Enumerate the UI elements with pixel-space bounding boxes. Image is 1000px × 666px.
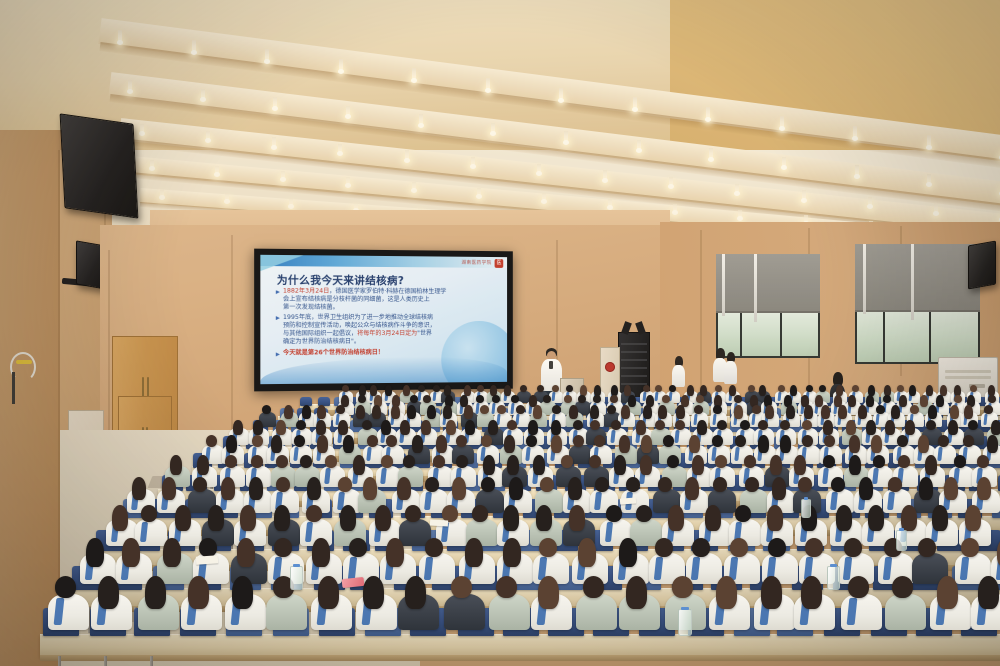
- audience-head: [372, 405, 381, 419]
- audience-head: [780, 435, 791, 453]
- audience-head: [296, 420, 306, 430]
- audience-head: [655, 420, 665, 430]
- audience-member: [885, 576, 926, 634]
- blind-cord[interactable]: [754, 254, 757, 322]
- audience-head: [734, 405, 743, 419]
- audience-head: [573, 435, 584, 447]
- audience-head: [163, 538, 181, 567]
- audience-head: [655, 538, 673, 557]
- audience-head: [715, 455, 727, 468]
- audience-head: [626, 576, 647, 609]
- audience-head: [772, 477, 786, 500]
- audience-head: [363, 576, 384, 609]
- audience-head: [276, 477, 290, 492]
- audience-head: [831, 477, 845, 492]
- audience-head: [464, 405, 473, 419]
- audience-head: [358, 395, 366, 403]
- audience-head: [970, 385, 977, 392]
- audience-head: [984, 405, 993, 414]
- audience-head: [551, 435, 562, 453]
- audience-head: [300, 455, 312, 468]
- slide-header-badge: 医: [495, 259, 504, 268]
- audience-head: [675, 420, 685, 430]
- water-bottle: [801, 499, 811, 518]
- audience-head: [456, 435, 467, 447]
- ceiling-downlight: [486, 78, 490, 91]
- audience-head: [386, 435, 397, 447]
- audience-head: [836, 505, 852, 531]
- ceiling-downlight: [477, 188, 481, 197]
- audience-head: [844, 538, 862, 557]
- ac-vent: [945, 376, 991, 379]
- paper-on-desk: [196, 555, 219, 565]
- audience-head: [619, 435, 630, 453]
- ceiling-downlight: [225, 194, 229, 202]
- audience-head: [492, 395, 500, 403]
- ceiling-downlight: [128, 80, 132, 92]
- audience-head: [253, 420, 263, 435]
- ceiling-downlight: [564, 131, 568, 143]
- microphone-icon: [549, 361, 553, 369]
- fire-emblem-icon: [605, 362, 615, 372]
- audience-head: [276, 455, 288, 468]
- audience-head: [208, 505, 224, 531]
- ceiling-downlight: [633, 97, 637, 110]
- audience-head: [262, 405, 271, 414]
- audience-member: [930, 576, 971, 634]
- bottle-cap: [681, 607, 688, 610]
- ceiling-downlight: [346, 106, 350, 118]
- audience-head: [375, 505, 391, 531]
- audience-head: [483, 455, 495, 475]
- audience-head: [873, 455, 885, 468]
- audience-head: [897, 435, 908, 447]
- audience-head: [316, 420, 326, 435]
- ceiling-downlight: [346, 177, 350, 186]
- ceiling-downlight: [537, 164, 541, 174]
- audience-member: [225, 576, 266, 634]
- desk-leg: [104, 656, 107, 666]
- audience-head: [507, 455, 519, 475]
- audience-head: [662, 395, 670, 403]
- audience-head: [716, 576, 737, 609]
- ceiling-downlight: [868, 197, 872, 207]
- audience-head: [476, 395, 484, 403]
- audience-head: [421, 420, 431, 435]
- audience-head: [932, 505, 948, 531]
- audience-head: [503, 505, 519, 531]
- audience-head: [871, 435, 882, 453]
- audience-head: [744, 455, 756, 468]
- audience-head: [919, 477, 933, 500]
- audience-head: [433, 385, 440, 392]
- ceiling-downlight: [272, 137, 276, 147]
- audience-head: [765, 405, 774, 419]
- audience-head: [274, 538, 292, 557]
- audience-head: [386, 538, 404, 567]
- audience-head: [824, 435, 835, 447]
- ceiling-downlight: [927, 174, 931, 186]
- audience-head: [794, 455, 806, 475]
- audience-head: [363, 477, 377, 500]
- desk-leg: [150, 656, 153, 666]
- audience-member: [181, 576, 222, 634]
- audience-member: [398, 576, 439, 634]
- audience-head: [611, 420, 621, 430]
- audience-head: [758, 435, 769, 453]
- audience-head: [400, 420, 410, 435]
- audience-member: [971, 576, 1000, 634]
- slide-wave-graphic: [260, 356, 507, 384]
- ceiling-downlight: [289, 199, 293, 207]
- audience-head: [112, 505, 128, 531]
- slide-bullet: 今天就是第26个世界防治结核病日！: [275, 349, 500, 358]
- audience-head: [694, 405, 703, 414]
- paper-on-desk: [620, 497, 636, 504]
- audience-head: [768, 538, 786, 557]
- audience-head: [284, 405, 293, 419]
- blind-cord[interactable]: [863, 244, 866, 314]
- staff-coat: [724, 361, 737, 384]
- ceiling-downlight: [802, 190, 806, 200]
- slide-bullet: 1882年3月24日，德国医学家罗伯特·科赫在德国柏林生理学会上宣布结核病是分枝…: [275, 287, 500, 312]
- audience-head: [858, 405, 867, 419]
- audience-head: [225, 455, 237, 468]
- speaker-left-upper: [60, 113, 139, 218]
- ceiling-downlight: [706, 107, 710, 120]
- slide-title: 为什么我今天来讲结核病?: [277, 272, 404, 288]
- audience-head: [343, 435, 354, 453]
- audience-head: [786, 405, 795, 419]
- audience-head: [338, 420, 348, 435]
- audience-head: [636, 420, 646, 435]
- ceiling-downlight: [471, 157, 475, 167]
- audience-torso: [266, 594, 307, 630]
- audience-head: [823, 455, 835, 468]
- audience-head: [232, 576, 253, 609]
- audience-head: [496, 576, 517, 598]
- audience-head: [55, 576, 76, 598]
- audience-head: [712, 435, 723, 447]
- audience-head: [804, 405, 813, 419]
- slide-bullet: 1995年底，世界卫生组织为了进一步地推动全球结核病预防和控制宣传活动，唤起公众…: [275, 314, 500, 347]
- audience-head: [481, 477, 495, 492]
- audience-head: [717, 420, 727, 430]
- audience-head: [162, 477, 176, 500]
- audience-head: [692, 455, 704, 475]
- audience-head: [98, 576, 119, 609]
- audience-head: [240, 505, 256, 531]
- audience-head: [705, 505, 721, 531]
- audience-head: [692, 538, 710, 557]
- audience-head: [516, 405, 525, 414]
- audience-head: [86, 538, 104, 567]
- audience-head: [418, 385, 425, 392]
- projection-screen[interactable]: 湖南医药学院 医 为什么我今天来讲结核病? 1882年3月24日，德国医学家罗伯…: [254, 249, 513, 392]
- audience-head: [436, 435, 447, 453]
- audience-head: [838, 405, 847, 419]
- audience-member: [841, 576, 882, 634]
- window-right-1: [716, 254, 820, 358]
- slide-bullet-line: 第一次发现结核菌。: [283, 304, 499, 313]
- audience-head: [745, 477, 759, 492]
- audience-head: [610, 395, 618, 403]
- audience-head: [566, 385, 573, 392]
- audience-head: [318, 576, 339, 609]
- audience-head: [713, 477, 727, 492]
- slide-header-logo: 湖南医药学院: [462, 260, 492, 266]
- audience-head: [294, 435, 305, 447]
- audience-head: [806, 385, 813, 392]
- audience-head: [735, 435, 746, 447]
- audience-head: [898, 455, 910, 468]
- audience-head: [925, 455, 937, 475]
- audience-head: [573, 420, 583, 430]
- audience-head: [122, 538, 140, 567]
- audience-head: [317, 435, 328, 453]
- lecture-hall-photo: 湖南医药学院 医 为什么我今天来讲结核病? 1882年3月24日，德国医学家罗伯…: [0, 0, 1000, 666]
- audience-head: [849, 455, 861, 475]
- water-bottle: [896, 530, 907, 551]
- audience-head: [520, 385, 527, 392]
- audience-member: [531, 576, 572, 634]
- slide-corner-graphic: [260, 255, 303, 272]
- audience-head: [876, 405, 885, 414]
- audience-head: [403, 455, 415, 468]
- audience-head: [488, 420, 498, 435]
- audience-head: [643, 385, 650, 392]
- audience-head: [397, 477, 411, 500]
- audience-head: [465, 420, 475, 435]
- audience-head: [132, 477, 146, 500]
- audience-head: [643, 405, 652, 419]
- audience-head: [888, 477, 902, 492]
- audience-head: [740, 420, 750, 430]
- audience-head: [356, 405, 365, 419]
- audience-head: [443, 405, 452, 419]
- audience-head: [433, 455, 445, 468]
- audience-head: [852, 385, 859, 392]
- audience-head: [948, 420, 958, 435]
- audience-head: [509, 477, 523, 500]
- audience-head: [965, 505, 981, 531]
- ceiling-downlight: [419, 114, 423, 126]
- audience-head: [859, 477, 873, 500]
- audience-head: [452, 477, 466, 500]
- audience-member: [619, 576, 660, 634]
- audience-head: [968, 420, 978, 430]
- audience-head: [342, 385, 349, 392]
- ceiling-downlight: [608, 199, 612, 208]
- audience-head: [589, 455, 601, 468]
- audience-head: [655, 385, 662, 392]
- ceiling-downlight: [603, 170, 607, 180]
- audience-head: [640, 455, 652, 475]
- audience-head: [199, 538, 217, 557]
- audience-head: [937, 576, 958, 609]
- audience-head: [340, 505, 356, 531]
- audience-head: [249, 477, 263, 500]
- window-blind-1[interactable]: [716, 254, 820, 313]
- audience-head: [533, 405, 542, 419]
- audience-head: [145, 576, 166, 609]
- ceiling-downlight: [709, 148, 713, 160]
- audience-head: [954, 455, 966, 468]
- audience-head: [551, 420, 561, 435]
- audience-head: [964, 405, 973, 419]
- ceiling-downlight: [780, 116, 784, 129]
- audience-member: [489, 576, 530, 634]
- audience-head: [987, 435, 998, 453]
- audience-head: [926, 420, 936, 430]
- audience-head: [578, 395, 586, 403]
- audience-head: [552, 405, 561, 414]
- water-bottle: [678, 609, 692, 636]
- audience-head: [405, 576, 426, 609]
- audience-head: [897, 385, 904, 392]
- audience-head: [170, 455, 182, 475]
- audience-head: [658, 405, 667, 419]
- staff-coat: [672, 365, 685, 387]
- audience-head: [381, 420, 391, 435]
- blind-cord[interactable]: [911, 244, 914, 320]
- water-bottle: [290, 566, 303, 590]
- ceiling-downlight: [542, 193, 546, 202]
- audience-head: [950, 405, 959, 419]
- ceiling-downlight: [206, 131, 210, 141]
- audience-head: [193, 477, 207, 492]
- audience-member: [444, 576, 485, 634]
- audience-head: [511, 395, 519, 403]
- audience-member: [754, 576, 795, 634]
- audience-head: [188, 576, 209, 609]
- ceiling-downlight: [281, 171, 285, 180]
- audience-head: [636, 505, 652, 522]
- ceiling-downlight: [140, 124, 144, 134]
- audience-head: [412, 435, 423, 453]
- slide-bullet-list: 1882年3月24日，德国医学家罗伯特·科赫在德国柏林生理学会上宣布结核病是分枝…: [275, 287, 500, 359]
- audience-head: [533, 455, 545, 475]
- audience-head: [892, 576, 913, 598]
- ceiling-downlight: [934, 203, 938, 213]
- audience-head: [991, 420, 1000, 435]
- audience-head: [539, 538, 557, 557]
- audience-head: [569, 505, 585, 531]
- audience-head: [802, 435, 813, 447]
- ceiling-downlight: [265, 49, 269, 62]
- audience-head: [846, 420, 856, 435]
- audience-head: [672, 576, 693, 598]
- audience-head: [821, 405, 830, 419]
- audience-head: [961, 538, 979, 557]
- ceiling-downlight: [738, 210, 742, 219]
- bottle-cap: [804, 497, 809, 500]
- audience-head: [977, 477, 991, 500]
- audience-head: [619, 538, 637, 567]
- audience-head: [312, 538, 330, 567]
- bottle-cap: [830, 564, 837, 567]
- audience-head: [175, 505, 191, 531]
- audience-head: [325, 455, 337, 468]
- audience-head: [626, 477, 640, 492]
- audience-torso: [576, 594, 617, 630]
- audience-head: [317, 405, 326, 419]
- audience-head: [770, 455, 782, 475]
- ceiling-downlight: [559, 88, 563, 101]
- audience-head: [237, 538, 255, 567]
- window-blind-2[interactable]: [855, 244, 980, 312]
- audience-head: [667, 455, 679, 468]
- audience-head: [349, 538, 367, 557]
- audience-head: [425, 477, 439, 492]
- window-mullion: [780, 308, 782, 356]
- audience-head: [641, 435, 652, 453]
- ceiling-downlight: [192, 40, 196, 53]
- audience-head: [735, 505, 751, 522]
- ceiling-downlight: [673, 204, 677, 213]
- audience-head: [748, 385, 755, 392]
- audience-head: [528, 420, 538, 435]
- audience-member: [576, 576, 617, 634]
- audience-head: [226, 435, 237, 453]
- window-glass: [716, 306, 820, 358]
- ceiling-downlight: [412, 182, 416, 191]
- audience-head: [251, 455, 263, 468]
- ceiling-downlight: [782, 157, 786, 169]
- audience-head: [552, 385, 559, 392]
- ceiling-downlight: [118, 30, 122, 43]
- audience-head: [594, 435, 605, 447]
- ceiling-downlight: [669, 177, 673, 187]
- ceiling-downlight: [215, 166, 219, 175]
- water-bottle: [827, 566, 840, 590]
- audience-head: [778, 385, 785, 392]
- audience-torso: [444, 594, 485, 630]
- audience-head: [472, 505, 488, 522]
- audience-head: [367, 435, 378, 447]
- ceiling-downlight: [853, 126, 857, 139]
- audience-head: [905, 420, 915, 435]
- audience-head: [338, 477, 352, 492]
- audience-head: [465, 538, 483, 567]
- ceiling-downlight: [637, 140, 641, 152]
- slide-bullet-line: 1995年底，世界卫生组织为了进一步地推动全球结核病: [283, 314, 499, 322]
- slide-bullet-line: 今天就是第26个世界防治结核病日！: [283, 349, 499, 358]
- audience-head: [918, 538, 936, 557]
- wall-seam: [231, 235, 233, 435]
- audience-head: [918, 435, 929, 453]
- audience-head: [963, 435, 974, 447]
- audience-head: [590, 405, 599, 419]
- audience-head: [276, 420, 286, 435]
- audience-head: [456, 455, 468, 468]
- blind-cord[interactable]: [722, 254, 725, 316]
- audience-head: [477, 385, 484, 392]
- audience-head: [848, 576, 869, 598]
- audience-head: [689, 435, 700, 453]
- audience-head: [425, 538, 443, 557]
- audience-head: [883, 395, 891, 403]
- audience-head: [595, 477, 609, 492]
- audience-head: [798, 477, 812, 492]
- audience-head: [561, 455, 573, 468]
- audience-head: [423, 395, 431, 403]
- ceiling-downlight: [160, 190, 164, 198]
- audience-head: [658, 477, 672, 492]
- audience-head: [221, 477, 235, 500]
- desk-edge: [40, 655, 1000, 661]
- audience-head: [497, 405, 506, 414]
